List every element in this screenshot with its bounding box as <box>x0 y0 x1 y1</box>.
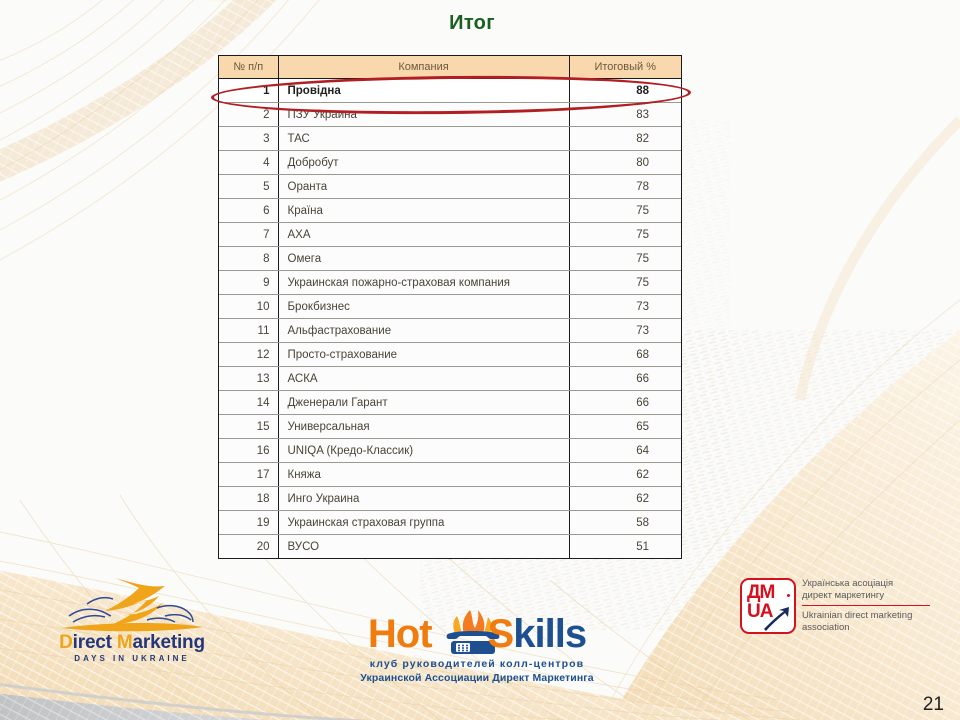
cell-score: 80 <box>569 151 681 175</box>
cell-score: 58 <box>569 511 681 535</box>
cell-score: 73 <box>569 319 681 343</box>
cell-company: Країна <box>278 199 569 223</box>
direct-marketing-subtitle: DAYS IN UKRAINE <box>47 654 217 663</box>
table-header-row: № п/п Компания Итоговый % <box>219 56 681 79</box>
cell-rank: 3 <box>219 127 278 151</box>
hs-word-kills: kills <box>513 612 586 656</box>
table-row: 2ПЗУ Украина83 <box>219 103 681 127</box>
column-header-rank: № п/п <box>219 56 278 79</box>
hs-word-hot: Hot <box>368 612 432 656</box>
cell-score: 64 <box>569 439 681 463</box>
cell-company: АСКА <box>278 367 569 391</box>
dmu-arrow-icon <box>762 605 792 631</box>
cell-rank: 15 <box>219 415 278 439</box>
dmu-description: Українська асоціація директ маркетингу U… <box>802 578 947 634</box>
slide-title: Итог <box>0 12 960 35</box>
dmu-en-line-2: association <box>802 622 947 634</box>
dmu-badge-dot <box>787 594 790 597</box>
direct-marketing-logo: Direct Marketing DAYS IN UKRAINE <box>47 572 217 672</box>
cell-score: 66 <box>569 391 681 415</box>
cell-company: Инго Украина <box>278 487 569 511</box>
page-number: 21 <box>923 694 944 716</box>
dm-letter-d: D <box>59 632 73 653</box>
slide-title-text: Итог <box>449 12 495 35</box>
cell-rank: 5 <box>219 175 278 199</box>
cell-company: ВУСО <box>278 535 569 559</box>
cell-company: Добробут <box>278 151 569 175</box>
cell-rank: 9 <box>219 271 278 295</box>
cell-company: Провідна <box>278 79 569 103</box>
cell-score: 65 <box>569 415 681 439</box>
cell-company: Альфастрахование <box>278 319 569 343</box>
cell-score: 88 <box>569 79 681 103</box>
dmu-logo: ДМ UA Українська асоціація директ маркет… <box>740 578 945 638</box>
hot-skills-subtitle-1: клуб руководителей колл-центров <box>352 658 602 670</box>
table-row: 1Провідна88 <box>219 79 681 103</box>
table-row: 14Дженерали Гарант66 <box>219 391 681 415</box>
cell-rank: 10 <box>219 295 278 319</box>
hot-skills-logo: HotSkills клуб руководителей колл-центро… <box>352 608 602 690</box>
cell-score: 66 <box>569 367 681 391</box>
table-row: 4Добробут80 <box>219 151 681 175</box>
cell-rank: 19 <box>219 511 278 535</box>
cell-rank: 6 <box>219 199 278 223</box>
cell-company: ПЗУ Украина <box>278 103 569 127</box>
dmu-ua-line-2: директ маркетингу <box>802 590 947 602</box>
table-header: № п/п Компания Итоговый % <box>219 56 681 79</box>
table-row: 15Универсальная65 <box>219 415 681 439</box>
cell-company: Оранта <box>278 175 569 199</box>
dmu-divider <box>802 605 930 606</box>
table-row: 17Княжа62 <box>219 463 681 487</box>
cell-company: Универсальная <box>278 415 569 439</box>
cell-company: UNIQA (Кредо-Классик) <box>278 439 569 463</box>
cell-score: 75 <box>569 199 681 223</box>
cell-rank: 20 <box>219 535 278 559</box>
cell-score: 68 <box>569 343 681 367</box>
cell-company: Брокбизнес <box>278 295 569 319</box>
table-row: 6Країна75 <box>219 199 681 223</box>
hot-skills-subtitle-2: Украинской Ассоциации Директ Маркетинга <box>352 672 602 684</box>
cell-rank: 14 <box>219 391 278 415</box>
cell-company: Княжа <box>278 463 569 487</box>
cell-rank: 12 <box>219 343 278 367</box>
dm-text-arketing: arketing <box>133 632 205 653</box>
table-row: 20ВУСО51 <box>219 535 681 559</box>
direct-marketing-mark-icon <box>47 572 217 634</box>
hs-letter-s: S <box>488 612 514 656</box>
table-row: 8Омега75 <box>219 247 681 271</box>
dmu-en-line-1: Ukrainian direct marketing <box>802 610 947 622</box>
dmu-ua-line-1: Українська асоціація <box>802 578 947 590</box>
cell-rank: 13 <box>219 367 278 391</box>
cell-company: Дженерали Гарант <box>278 391 569 415</box>
cell-company: Украинская пожарно-страховая компания <box>278 271 569 295</box>
cell-company: Омега <box>278 247 569 271</box>
cell-score: 78 <box>569 175 681 199</box>
cell-rank: 4 <box>219 151 278 175</box>
cell-score: 51 <box>569 535 681 559</box>
direct-marketing-wordmark: Direct Marketing <box>47 632 217 654</box>
table-row: 16UNIQA (Кредо-Классик)64 <box>219 439 681 463</box>
cell-company: Просто-страхование <box>278 343 569 367</box>
hot-skills-wordmark: HotSkills <box>352 612 602 657</box>
results-table: № п/п Компания Итоговый % 1Провідна882ПЗ… <box>218 55 682 559</box>
table-row: 9Украинская пожарно-страховая компания75 <box>219 271 681 295</box>
table-row: 18Инго Украина62 <box>219 487 681 511</box>
cell-rank: 11 <box>219 319 278 343</box>
cell-score: 75 <box>569 271 681 295</box>
cell-score: 75 <box>569 223 681 247</box>
cell-score: 73 <box>569 295 681 319</box>
cell-score: 82 <box>569 127 681 151</box>
cell-rank: 16 <box>219 439 278 463</box>
table-row: 19Украинская страховая группа58 <box>219 511 681 535</box>
cell-company: ТАС <box>278 127 569 151</box>
column-header-score: Итоговый % <box>569 56 681 79</box>
table-row: 11Альфастрахование73 <box>219 319 681 343</box>
table-row: 7AXA75 <box>219 223 681 247</box>
table-body: 1Провідна882ПЗУ Украина833ТАС824Добробут… <box>219 79 681 559</box>
cell-score: 62 <box>569 463 681 487</box>
table-row: 12Просто-страхование68 <box>219 343 681 367</box>
cell-rank: 7 <box>219 223 278 247</box>
table-row: 13АСКА66 <box>219 367 681 391</box>
cell-rank: 8 <box>219 247 278 271</box>
table-row: 10Брокбизнес73 <box>219 295 681 319</box>
cell-score: 62 <box>569 487 681 511</box>
ranking-table: № п/п Компания Итоговый % 1Провідна882ПЗ… <box>219 56 681 558</box>
cell-rank: 1 <box>219 79 278 103</box>
dmu-badge-line-1: ДМ <box>747 583 774 602</box>
dm-text-irect: irect <box>73 632 117 653</box>
dmu-badge-icon: ДМ UA <box>740 578 796 634</box>
cell-company: AXA <box>278 223 569 247</box>
cell-rank: 17 <box>219 463 278 487</box>
table-row: 5Оранта78 <box>219 175 681 199</box>
cell-rank: 2 <box>219 103 278 127</box>
cell-score: 83 <box>569 103 681 127</box>
cell-rank: 18 <box>219 487 278 511</box>
cell-score: 75 <box>569 247 681 271</box>
dm-letter-m: M <box>117 632 133 653</box>
column-header-company: Компания <box>278 56 569 79</box>
table-row: 3ТАС82 <box>219 127 681 151</box>
cell-company: Украинская страховая группа <box>278 511 569 535</box>
